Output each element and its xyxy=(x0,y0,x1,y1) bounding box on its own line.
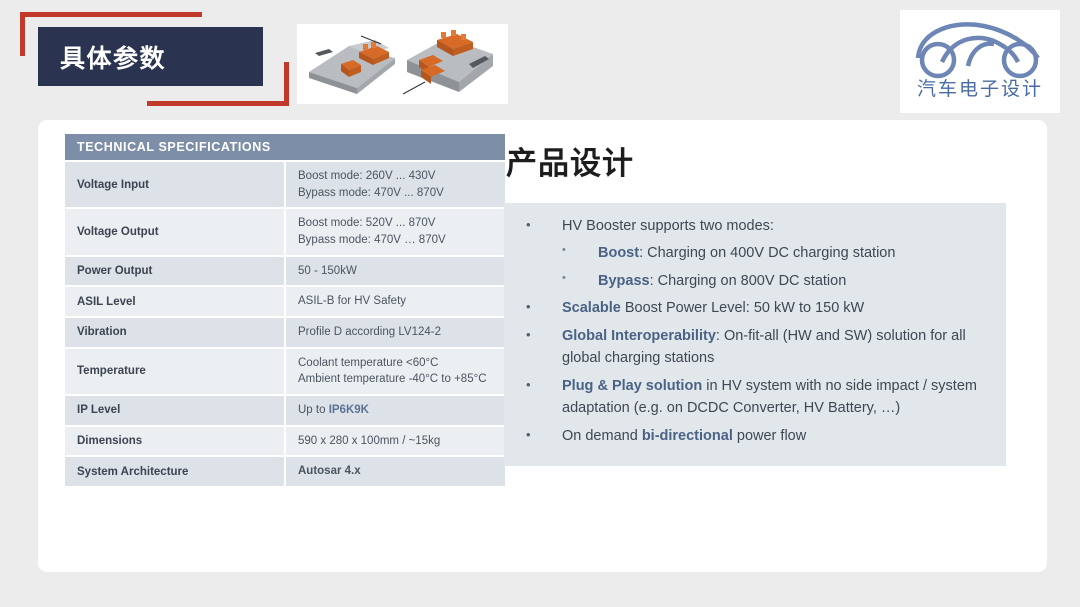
table-header-row: TECHNICAL SPECIFICATIONS xyxy=(65,134,505,161)
list-item-text: Boost: Charging on 400V DC charging stat… xyxy=(598,242,992,264)
logo-text: 汽车电子设计 xyxy=(917,74,1043,101)
technical-specifications-table: TECHNICAL SPECIFICATIONS Voltage Input B… xyxy=(65,134,505,488)
list-item: • Global Interoperability: On-fit-all (H… xyxy=(518,325,992,370)
bullet-dot-icon: • xyxy=(518,215,562,237)
row-value: Up to IP6K9K xyxy=(285,395,505,426)
list-item: • Boost: Charging on 400V DC charging st… xyxy=(518,242,992,264)
row-value-line: Bypass mode: 470V ... 870V xyxy=(298,185,505,202)
list-item-rest: Boost Power Level: 50 kW to 150 kW xyxy=(621,300,864,316)
row-value: Profile D according LV124-2 xyxy=(285,317,505,348)
bullet-dot-icon: • xyxy=(518,325,562,370)
list-item-pre: On demand xyxy=(562,428,642,444)
table-row: Voltage Output Boost mode: 520V ... 870V… xyxy=(65,208,505,255)
row-key: Voltage Input xyxy=(65,161,285,208)
row-key: Voltage Output xyxy=(65,208,285,255)
bullet-dot-icon: • xyxy=(518,375,562,420)
bullet-list: • HV Booster supports two modes: • Boost… xyxy=(504,203,1006,466)
bullet-dot-icon: • xyxy=(518,425,562,447)
slide-root: 具体参数 xyxy=(0,0,1080,607)
row-key: Vibration xyxy=(65,317,285,348)
row-key: ASIL Level xyxy=(65,286,285,317)
list-item-text: Bypass: Charging on 800V DC station xyxy=(598,270,992,292)
bullet-dot-icon: • xyxy=(518,242,598,264)
list-item-text: Plug & Play solution in HV system with n… xyxy=(562,375,992,420)
row-value: Boost mode: 260V ... 430V Bypass mode: 4… xyxy=(285,161,505,208)
list-item-text: Scalable Boost Power Level: 50 kW to 150… xyxy=(562,297,992,319)
table-row: Power Output 50 - 150kW xyxy=(65,256,505,287)
list-item-emphasis: Bypass xyxy=(598,273,650,289)
row-value: ASIL-B for HV Safety xyxy=(285,286,505,317)
table-row: ASIL Level ASIL-B for HV Safety xyxy=(65,286,505,317)
table-row: Voltage Input Boost mode: 260V ... 430V … xyxy=(65,161,505,208)
list-item-rest: : Charging on 400V DC charging station xyxy=(639,245,895,261)
list-item: • Bypass: Charging on 800V DC station xyxy=(518,270,992,292)
list-item-emphasis: bi-directional xyxy=(642,428,733,444)
row-value-prefix: Up to xyxy=(298,404,329,416)
bullet-dot-icon: • xyxy=(518,270,598,292)
table-row: Temperature Coolant temperature <60°C Am… xyxy=(65,348,505,395)
list-item-text: On demand bi-directional power flow xyxy=(562,425,992,447)
row-key: IP Level xyxy=(65,395,285,426)
right-panel: 产品设计 • HV Booster supports two modes: • … xyxy=(504,130,1024,466)
list-item-emphasis: Plug & Play solution xyxy=(562,378,702,394)
brand-logo: 汽车电子设计 xyxy=(900,10,1060,113)
row-value: Boost mode: 520V ... 870V Bypass mode: 4… xyxy=(285,208,505,255)
row-value: 50 - 150kW xyxy=(285,256,505,287)
row-value-accent: IP6K9K xyxy=(329,404,369,416)
list-item: • On demand bi-directional power flow xyxy=(518,425,992,447)
table-header-label: TECHNICAL SPECIFICATIONS xyxy=(65,134,505,161)
car-outline-logo-icon xyxy=(910,18,1050,80)
slide-title-box: 具体参数 xyxy=(38,27,263,86)
row-value: 590 x 280 x 100mm / ~15kg xyxy=(285,426,505,457)
list-item: • Scalable Boost Power Level: 50 kW to 1… xyxy=(518,297,992,319)
list-item-text: Global Interoperability: On-fit-all (HW … xyxy=(562,325,992,370)
bullet-dot-icon: • xyxy=(518,297,562,319)
list-item: • HV Booster supports two modes: xyxy=(518,215,992,237)
list-item-emphasis: Global Interoperability xyxy=(562,328,716,344)
row-key: System Architecture xyxy=(65,456,285,487)
row-key: Dimensions xyxy=(65,426,285,457)
row-value-line: Coolant temperature <60°C xyxy=(298,355,505,372)
row-value-accent: Autosar 4.x xyxy=(285,456,505,487)
product-image xyxy=(297,24,508,104)
list-item-emphasis: Scalable xyxy=(562,300,621,316)
list-item-rest: power flow xyxy=(733,428,806,444)
section-title: 产品设计 xyxy=(506,138,1024,183)
list-item-text: HV Booster supports two modes: xyxy=(562,215,992,237)
table-row: Dimensions 590 x 280 x 100mm / ~15kg xyxy=(65,426,505,457)
list-item: • Plug & Play solution in HV system with… xyxy=(518,375,992,420)
row-value-line: Bypass mode: 470V … 870V xyxy=(298,232,505,249)
row-value: Coolant temperature <60°C Ambient temper… xyxy=(285,348,505,395)
table-row: Vibration Profile D according LV124-2 xyxy=(65,317,505,348)
row-key: Temperature xyxy=(65,348,285,395)
table-row: IP Level Up to IP6K9K xyxy=(65,395,505,426)
list-item-emphasis: Boost xyxy=(598,245,639,261)
content-card: TECHNICAL SPECIFICATIONS Voltage Input B… xyxy=(38,120,1047,572)
table-row: System Architecture Autosar 4.x xyxy=(65,456,505,487)
row-key: Power Output xyxy=(65,256,285,287)
row-value-line: Ambient temperature -40°C to +85°C xyxy=(298,371,505,388)
row-value-line: Boost mode: 520V ... 870V xyxy=(298,215,505,232)
row-value-line: Boost mode: 260V ... 430V xyxy=(298,168,505,185)
page-title: 具体参数 xyxy=(60,39,166,75)
list-item-rest: : Charging on 800V DC station xyxy=(650,273,847,289)
